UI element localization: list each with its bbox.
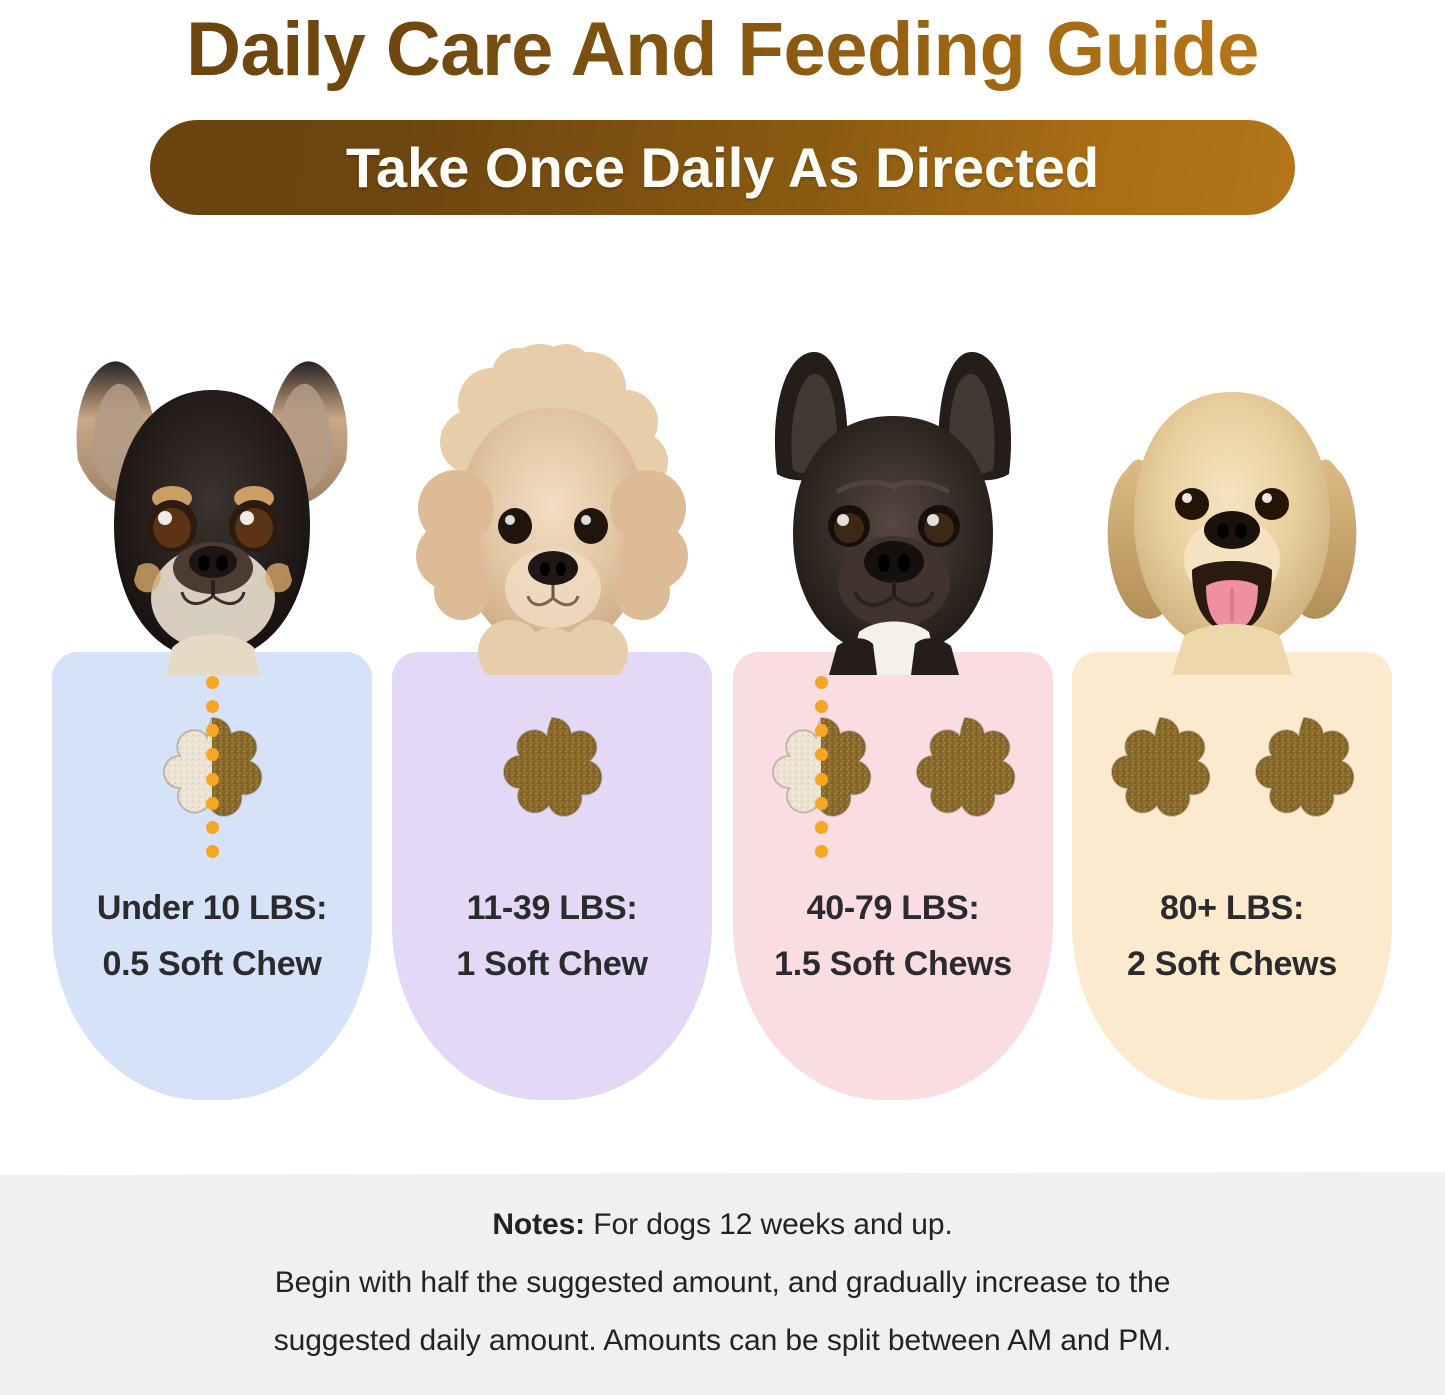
chew-illustration-group bbox=[392, 682, 712, 852]
notes-line-2: Begin with half the suggested amount, an… bbox=[0, 1254, 1445, 1312]
chew-half-icon bbox=[762, 708, 880, 826]
notes-line-1-text: For dogs 12 weeks and up. bbox=[585, 1208, 953, 1241]
chew-illustration-group bbox=[52, 682, 372, 852]
weight-range-label: 40-79 LBS: bbox=[733, 880, 1053, 936]
dosage-cards: Under 10 LBS: 0.5 Soft Chew bbox=[0, 300, 1445, 1110]
chew-full-icon bbox=[1245, 708, 1363, 826]
chew-half-icon bbox=[153, 708, 271, 826]
weight-range-label: 11-39 LBS: bbox=[392, 880, 712, 936]
weight-range-label: 80+ LBS: bbox=[1072, 880, 1392, 936]
header: Daily Care And Feeding Guide Take Once D… bbox=[0, 0, 1445, 230]
dose-label: 2 Soft Chews bbox=[1072, 936, 1392, 992]
dosage-card-80-plus-lbs[interactable]: 80+ LBS: 2 Soft Chews bbox=[1072, 300, 1392, 1110]
dose-label: 0.5 Soft Chew bbox=[52, 936, 372, 992]
dose-label: 1 Soft Chew bbox=[392, 936, 712, 992]
chew-illustration-group bbox=[733, 682, 1053, 852]
dog-photo-poodle bbox=[400, 330, 704, 675]
notes-line-1: Notes: For dogs 12 weeks and up. bbox=[0, 1196, 1445, 1254]
chew-full-icon bbox=[493, 708, 611, 826]
subtitle-text: Take Once Daily As Directed bbox=[346, 137, 1099, 199]
chew-illustration-group bbox=[1072, 682, 1392, 852]
dosage-card-11-39-lbs[interactable]: 11-39 LBS: 1 Soft Chew bbox=[392, 300, 712, 1110]
card-labels: 80+ LBS: 2 Soft Chews bbox=[1072, 880, 1392, 992]
chew-full-icon bbox=[1101, 708, 1219, 826]
card-labels: 40-79 LBS: 1.5 Soft Chews bbox=[733, 880, 1053, 992]
dosage-card-under-10-lbs[interactable]: Under 10 LBS: 0.5 Soft Chew bbox=[52, 300, 372, 1110]
dog-photo-french-bulldog bbox=[741, 330, 1045, 675]
notes-label: Notes: bbox=[492, 1208, 585, 1241]
dog-photo-golden-retriever bbox=[1080, 330, 1384, 675]
chew-full-icon bbox=[906, 708, 1024, 826]
page-title: Daily Care And Feeding Guide bbox=[0, 2, 1445, 98]
half-split-dotted-line bbox=[205, 676, 219, 858]
dog-photo-chihuahua bbox=[60, 330, 364, 675]
notes-line-3: suggested daily amount. Amounts can be s… bbox=[0, 1312, 1445, 1370]
notes-section: Notes: For dogs 12 weeks and up. Begin w… bbox=[0, 1172, 1445, 1395]
card-labels: Under 10 LBS: 0.5 Soft Chew bbox=[52, 880, 372, 992]
half-split-dotted-line bbox=[814, 676, 828, 858]
dosage-card-40-79-lbs[interactable]: 40-79 LBS: 1.5 Soft Chews bbox=[733, 300, 1053, 1110]
card-labels: 11-39 LBS: 1 Soft Chew bbox=[392, 880, 712, 992]
dose-label: 1.5 Soft Chews bbox=[733, 936, 1053, 992]
weight-range-label: Under 10 LBS: bbox=[52, 880, 372, 936]
subtitle-banner: Take Once Daily As Directed bbox=[150, 120, 1295, 215]
